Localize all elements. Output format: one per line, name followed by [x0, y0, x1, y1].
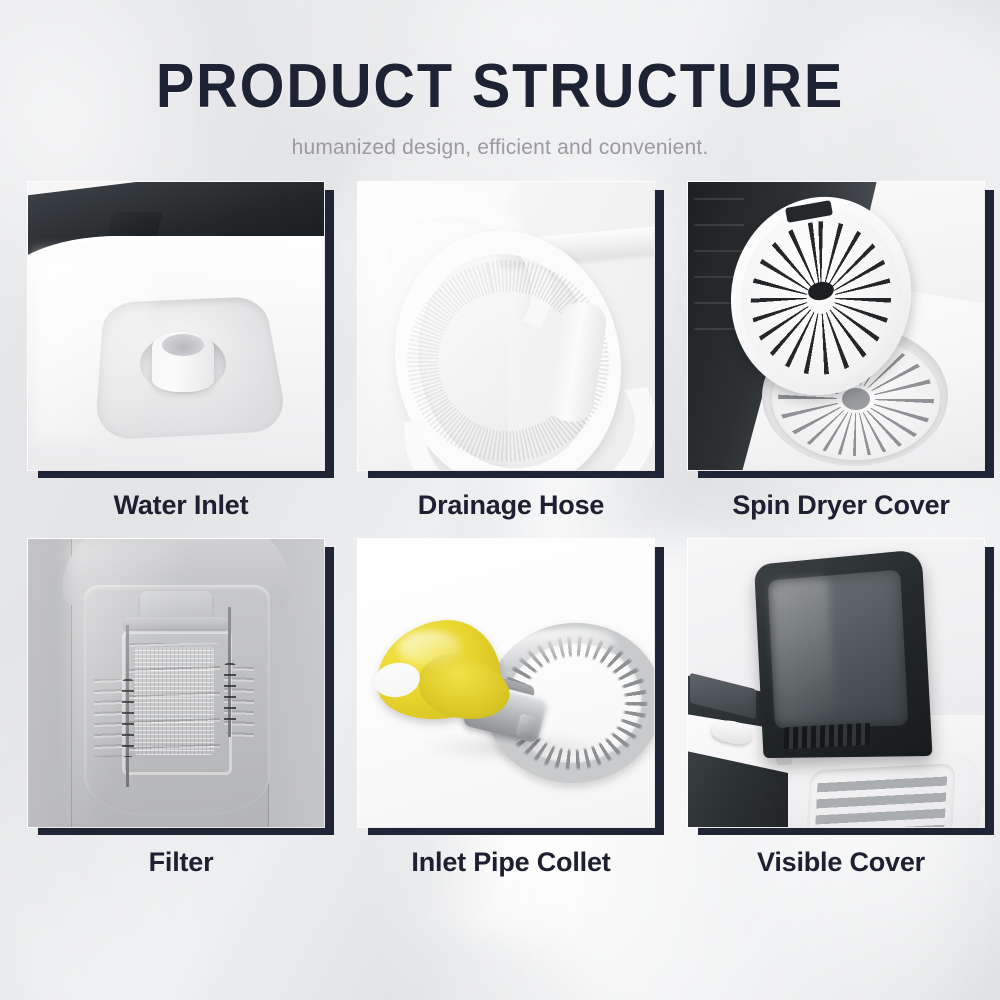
card-label-visible-cover: Visible Cover	[688, 847, 994, 878]
photo-gloss	[68, 539, 188, 827]
feature-card-drainage-hose[interactable]: Drainage Hose	[358, 182, 666, 521]
card-label-spin-dryer-cover: Spin Dryer Cover	[688, 490, 994, 521]
visible-cover-photo	[688, 539, 984, 827]
drainage-hose-photo	[358, 182, 654, 470]
visible-cover-gloss	[769, 577, 835, 724]
filter-clips-right	[224, 663, 236, 729]
drain-plate-holes	[814, 769, 947, 827]
feature-card-visible-cover[interactable]: Visible Cover	[688, 539, 996, 878]
water-inlet-photo	[28, 182, 324, 470]
feature-card-spin-dryer-cover[interactable]: Spin Dryer Cover	[688, 182, 996, 521]
photo-frame	[28, 539, 324, 827]
feature-card-filter[interactable]: Filter	[28, 539, 336, 878]
card-label-drainage-hose: Drainage Hose	[358, 490, 664, 521]
spin-dryer-cover-photo	[688, 182, 984, 470]
yellow-wing-highlight	[398, 631, 462, 665]
inlet-spout-opening	[162, 334, 204, 356]
feature-card-inlet-pipe-collet[interactable]: Inlet Pipe Collet	[358, 539, 666, 878]
page-title: PRODUCT STRUCTURE	[35, 56, 965, 118]
photo-gloss	[34, 252, 154, 442]
card-label-filter: Filter	[28, 847, 334, 878]
photo-gloss	[358, 182, 518, 470]
card-label-water-inlet: Water Inlet	[28, 490, 334, 521]
photo-frame	[358, 539, 654, 827]
photo-frame	[28, 182, 324, 470]
feature-card-water-inlet[interactable]: Water Inlet	[28, 182, 336, 521]
photo-frame	[688, 539, 984, 827]
product-structure-infographic: PRODUCT STRUCTURE humanized design, effi…	[0, 0, 1000, 1000]
photo-frame	[688, 182, 984, 470]
visible-cover-vents	[784, 723, 870, 750]
filter-photo	[28, 539, 324, 827]
card-label-inlet-pipe-collet: Inlet Pipe Collet	[358, 847, 664, 878]
spin-basket-hub	[842, 388, 870, 410]
photo-frame	[358, 182, 654, 470]
page-subtitle: humanized design, efficient and convenie…	[0, 136, 1000, 160]
header: PRODUCT STRUCTURE humanized design, effi…	[0, 0, 1000, 160]
feature-card-grid: Water Inlet Drainage Hose	[16, 182, 984, 878]
inlet-pipe-collet-photo	[358, 539, 654, 827]
